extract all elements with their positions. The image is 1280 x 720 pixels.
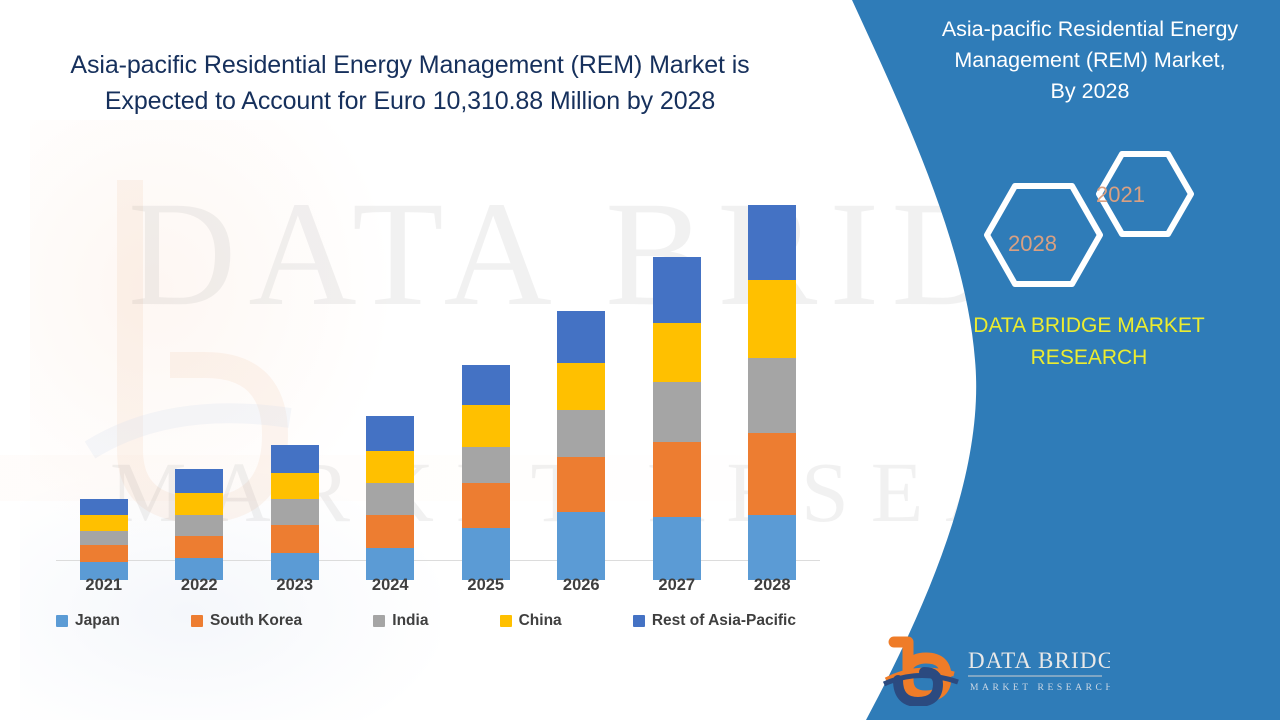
bar-segment-rest-of-asia-pacific[interactable] (80, 499, 128, 515)
bar-stack-2028[interactable] (748, 205, 796, 580)
bar-segment-india[interactable] (175, 515, 223, 536)
legend-label: India (392, 612, 428, 630)
bar-segment-china[interactable] (557, 363, 605, 410)
page-title-line-1: Asia-pacific Residential Energy Manageme… (70, 51, 749, 79)
x-axis-label-2024: 2024 (352, 576, 428, 595)
panel-title-line-1: Asia-pacific Residential Energy (942, 17, 1238, 41)
bar-segment-japan[interactable] (557, 512, 605, 580)
legend-label: South Korea (210, 612, 302, 630)
bar-segment-china[interactable] (80, 515, 128, 531)
x-axis-label-2025: 2025 (448, 576, 524, 595)
bar-segment-china[interactable] (748, 280, 796, 358)
legend-item-rest-of-asia-pacific[interactable]: Rest of Asia-Pacific (633, 612, 796, 630)
x-axis-label-2022: 2022 (161, 576, 237, 595)
bar-segment-china[interactable] (366, 451, 414, 483)
legend-swatch-icon (56, 615, 68, 627)
hexagon-2028-icon (987, 186, 1100, 284)
panel-title-line-3: By 2028 (1051, 79, 1130, 103)
x-axis-label-2021: 2021 (66, 576, 142, 595)
bar-segment-rest-of-asia-pacific[interactable] (175, 469, 223, 493)
brand-name-line-1: DATA BRIDGE MARKET (973, 314, 1204, 337)
bar-segment-japan[interactable] (748, 515, 796, 580)
bar-segment-china[interactable] (175, 493, 223, 515)
page-title: Asia-pacific Residential Energy Manageme… (60, 48, 760, 119)
bar-segment-india[interactable] (80, 531, 128, 545)
bar-segment-india[interactable] (462, 447, 510, 483)
hexagon-2021-icon (1099, 154, 1191, 234)
bar-segment-india[interactable] (557, 410, 605, 457)
bar-segment-china[interactable] (271, 473, 319, 499)
bar-stack-2026[interactable] (557, 311, 605, 580)
x-axis-label-2028: 2028 (734, 576, 810, 595)
legend-item-japan[interactable]: Japan (56, 612, 120, 630)
bar-stack-2023[interactable] (271, 445, 319, 580)
bar-segment-india[interactable] (653, 382, 701, 442)
brand-name-line-2: RESEARCH (1031, 346, 1148, 369)
bar-segment-japan[interactable] (462, 528, 510, 580)
legend-swatch-icon (191, 615, 203, 627)
legend-swatch-icon (500, 615, 512, 627)
hexagon-badges: 2028 2021 (972, 148, 1202, 288)
panel-content: Asia-pacific Residential Energy Manageme… (900, 0, 1280, 720)
bar-segment-rest-of-asia-pacific[interactable] (748, 205, 796, 280)
hexagon-outline-icons (972, 148, 1202, 288)
legend-item-china[interactable]: China (500, 612, 562, 630)
bar-stack-2021[interactable] (80, 499, 128, 580)
bar-segment-south-korea[interactable] (748, 433, 796, 515)
brand-name-text: DATA BRIDGE MARKET RESEARCH (908, 310, 1270, 373)
logo-mark-icon (884, 642, 958, 702)
bar-segment-rest-of-asia-pacific[interactable] (653, 257, 701, 323)
legend-label: Japan (75, 612, 120, 630)
bar-segment-south-korea[interactable] (80, 545, 128, 562)
logo-subtitle: MARKET RESEARCH (970, 683, 1110, 693)
legend-label: Rest of Asia-Pacific (652, 612, 796, 630)
legend-item-india[interactable]: India (373, 612, 428, 630)
panel-title: Asia-pacific Residential Energy Manageme… (906, 14, 1274, 108)
legend-swatch-icon (373, 615, 385, 627)
bar-segment-south-korea[interactable] (175, 536, 223, 558)
bar-segment-rest-of-asia-pacific[interactable] (366, 416, 414, 451)
bar-segment-india[interactable] (748, 358, 796, 433)
panel-title-line-2: Management (REM) Market, (954, 48, 1225, 72)
bar-segment-south-korea[interactable] (366, 515, 414, 548)
bar-segment-china[interactable] (462, 405, 510, 447)
x-axis-label-2027: 2027 (639, 576, 715, 595)
bar-segment-rest-of-asia-pacific[interactable] (557, 311, 605, 363)
bar-segment-india[interactable] (366, 483, 414, 515)
bar-segment-south-korea[interactable] (271, 525, 319, 553)
bar-stack-2024[interactable] (366, 416, 414, 580)
bar-segment-south-korea[interactable] (653, 442, 701, 517)
hexagon-label-2028: 2028 (1008, 231, 1057, 257)
page-title-line-2: Expected to Account for Euro 10,310.88 M… (105, 87, 715, 115)
chart-axis-line (56, 560, 820, 561)
bar-stack-2027[interactable] (653, 257, 701, 580)
logo-title: DATA BRIDGE (968, 648, 1110, 673)
bar-segment-rest-of-asia-pacific[interactable] (462, 365, 510, 405)
hexagon-label-2021: 2021 (1096, 182, 1145, 208)
infographic-root: DATA BRIDGE MARKET RESEARCH Asia-pacific… (0, 0, 1280, 720)
bar-segment-japan[interactable] (653, 517, 701, 580)
data-bridge-logo: DATA BRIDGE MARKET RESEARCH (880, 636, 1110, 706)
legend-label: China (519, 612, 562, 630)
legend-item-south-korea[interactable]: South Korea (191, 612, 302, 630)
stacked-bar-chart: 20212022202320242025202620272028 (0, 140, 840, 580)
bar-stack-2022[interactable] (175, 469, 223, 580)
bar-segment-south-korea[interactable] (557, 457, 605, 512)
x-axis-label-2026: 2026 (543, 576, 619, 595)
bar-segment-south-korea[interactable] (462, 483, 510, 528)
legend-swatch-icon (633, 615, 645, 627)
bar-segment-india[interactable] (271, 499, 319, 525)
bar-stack-2025[interactable] (462, 365, 510, 580)
bar-segment-rest-of-asia-pacific[interactable] (271, 445, 319, 473)
chart-legend: JapanSouth KoreaIndiaChinaRest of Asia-P… (56, 612, 826, 630)
bar-segment-china[interactable] (653, 323, 701, 382)
x-axis-label-2023: 2023 (257, 576, 333, 595)
